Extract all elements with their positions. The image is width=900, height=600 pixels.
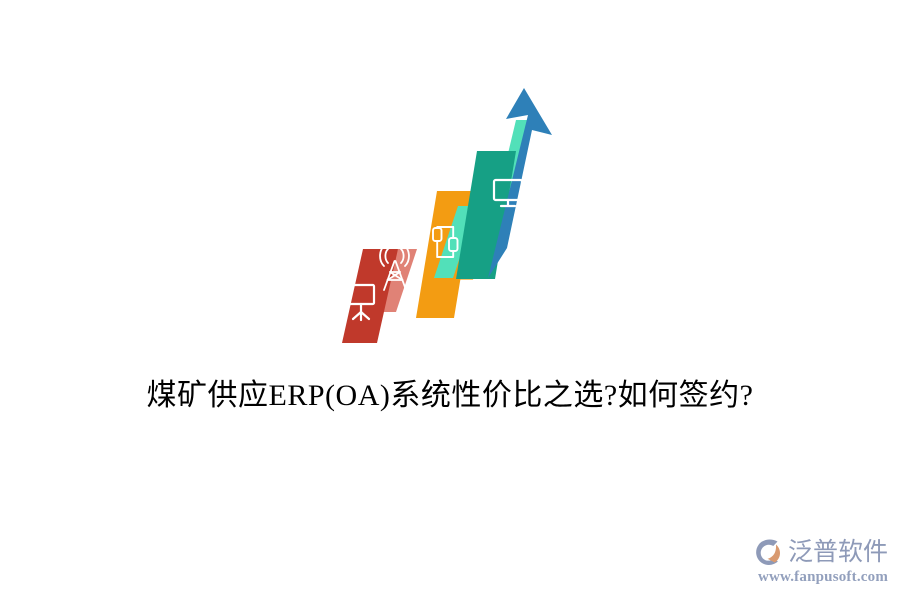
title-block: 煤矿供应ERP(OA)系统性价比之选?如何签约? — [0, 375, 900, 417]
brand-watermark: 泛普软件 www.fanpusoft.com — [752, 534, 892, 592]
arrow-block-red — [342, 249, 417, 343]
page-root: 煤矿供应ERP(OA)系统性价比之选?如何签约? 泛普软件 www.fanpus… — [0, 0, 900, 600]
brand-name: 泛普软件 — [788, 538, 888, 566]
brand-url: www.fanpusoft.com — [754, 568, 892, 586]
ascending-stepped-arrow-chart — [320, 80, 570, 350]
page-title: 煤矿供应ERP(OA)系统性价比之选?如何签约? — [147, 375, 754, 417]
fanpu-swoosh-logo-icon — [752, 535, 786, 569]
brand-row: 泛普软件 — [752, 534, 888, 570]
